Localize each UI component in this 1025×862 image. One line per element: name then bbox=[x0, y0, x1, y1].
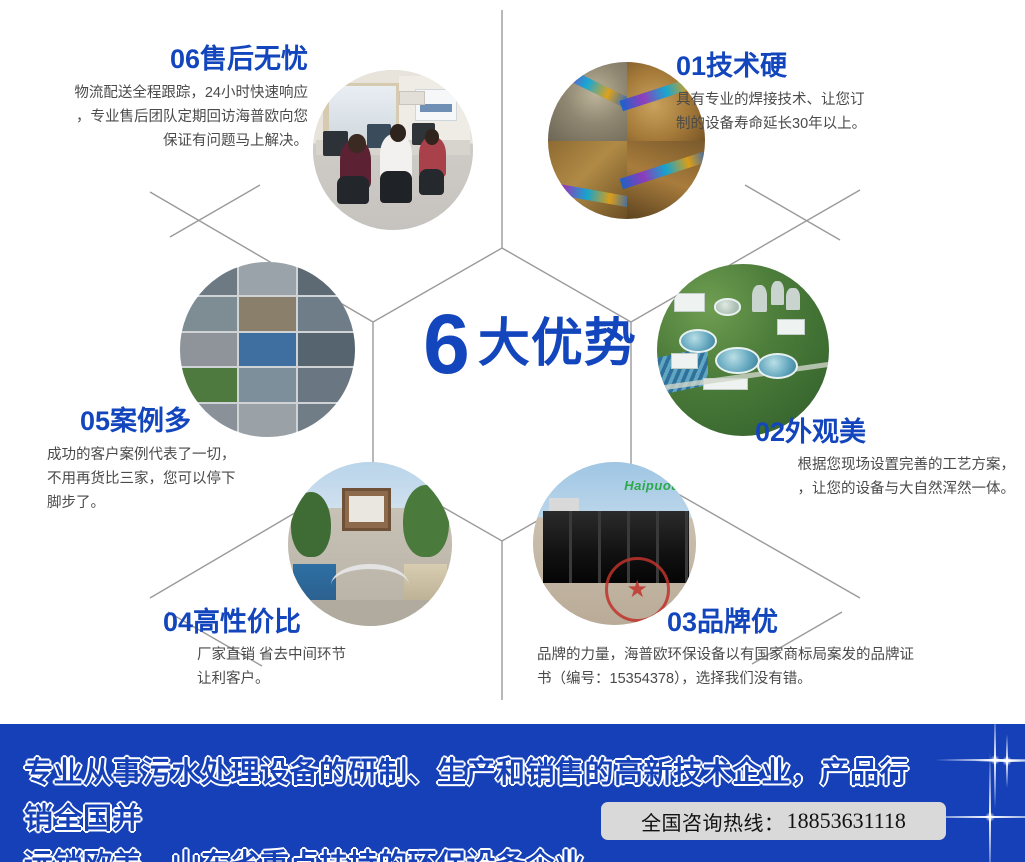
photo-aerial-plant bbox=[657, 264, 829, 436]
advantage-block-02: 02外观美 根据您现场设置完善的工艺方案， ，让您的设备与大自然浑然一体。 bbox=[695, 417, 1015, 501]
six-advantages-infographic: 6 大优势 bbox=[0, 0, 1025, 862]
advantage-heading-01: 01技术硬 bbox=[676, 51, 1006, 81]
advantage-line: ，让您的设备与大自然浑然一体。 bbox=[695, 477, 1015, 501]
sparkle-icon-tiny bbox=[975, 734, 1025, 788]
advantage-line: 不用再货比三家，您可以停下 bbox=[47, 467, 367, 491]
advantage-heading-03: 03品牌优 bbox=[667, 607, 1017, 637]
advantage-line: 保证有问题马上解决。 bbox=[8, 129, 308, 153]
photo-office-team bbox=[313, 70, 473, 230]
advantage-block-01: 01技术硬 具有专业的焊接技术、让您订 制的设备寿命延长30年以上。 bbox=[676, 51, 1006, 136]
advantage-line: 根据您现场设置完善的工艺方案， bbox=[695, 453, 1015, 477]
advantage-line: 书（编号：15354378），选择我们没有错。 bbox=[537, 667, 1017, 691]
advantage-block-05: 05案例多 成功的客户案例代表了一切， 不用再货比三家，您可以停下 脚步了。 bbox=[47, 406, 367, 515]
hotline-label: 全国咨询热线： bbox=[641, 807, 785, 836]
banner-line-2: 远销欧美，山东省重点扶持的环保设备企业。 bbox=[24, 842, 924, 862]
hotline-badge[interactable]: 全国咨询热线： 18853631118 bbox=[601, 802, 946, 840]
equipment-logo-text: Haipuou bbox=[615, 478, 680, 498]
advantage-block-03: 03品牌优 品牌的力量，海普欧环保设备以有国家商标局案发的品牌证 书（编号：15… bbox=[537, 607, 1017, 691]
sparkle-icon-small bbox=[935, 724, 1025, 808]
advantage-heading-02: 02外观美 bbox=[755, 417, 1015, 447]
center-word: 大优势 bbox=[478, 316, 637, 372]
advantage-line: 制的设备寿命延长30年以上。 bbox=[676, 112, 1006, 136]
advantage-line: 物流配送全程跟踪，24小时快速响应 bbox=[8, 81, 308, 105]
advantage-line: ，专业售后团队定期回访海普欧向您 bbox=[8, 105, 308, 129]
advantage-line: 脚步了。 bbox=[47, 491, 367, 515]
advantage-heading-04: 04高性价比 bbox=[163, 607, 493, 637]
advantage-line: 具有专业的焊接技术、让您订 bbox=[676, 88, 1006, 112]
advantage-heading-05: 05案例多 bbox=[80, 406, 367, 436]
hotline-number: 18853631118 bbox=[787, 808, 906, 834]
photo-black-equipment: Haipuou bbox=[533, 462, 696, 625]
advantage-block-06: 06售后无忧 物流配送全程跟踪，24小时快速响应 ，专业售后团队定期回访海普欧向… bbox=[8, 44, 308, 153]
advantage-block-04: 04高性价比 厂家直销 省去中间环节 让利客户。 bbox=[163, 607, 493, 691]
advantage-line: 让利客户。 bbox=[197, 667, 493, 691]
center-number: 6 bbox=[423, 302, 468, 386]
advantage-line: 成功的客户案例代表了一切， bbox=[47, 443, 367, 467]
bottom-banner: 专业从事污水处理设备的研制、生产和销售的高新技术企业，产品行销全国并 远销欧美，… bbox=[0, 724, 1025, 862]
center-title: 6 大优势 bbox=[400, 288, 660, 400]
advantage-heading-06: 06售后无忧 bbox=[8, 44, 308, 74]
advantage-line: 厂家直销 省去中间环节 bbox=[197, 643, 493, 667]
advantage-line: 品牌的力量，海普欧环保设备以有国家商标局案发的品牌证 bbox=[537, 643, 1017, 667]
